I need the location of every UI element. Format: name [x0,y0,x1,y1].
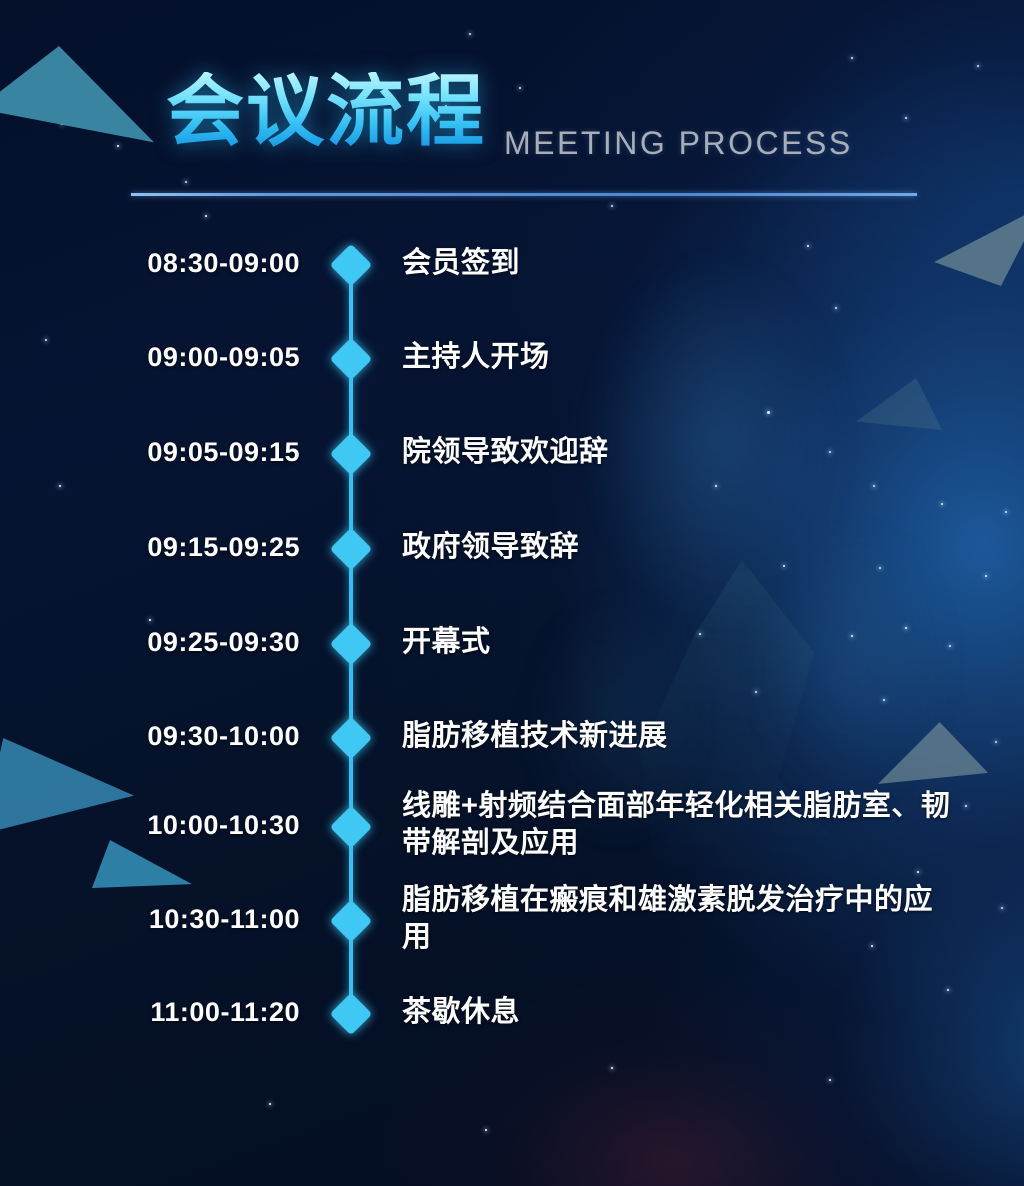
schedule-topic: 线雕+射频结合面部年轻化相关脂肪室、韧带解剖及应用 [402,788,962,862]
slide-canvas: 会议流程 MEETING PROCESS 08:30-09:00会员签到09:0… [0,0,1024,1186]
header-divider-line [131,193,917,196]
schedule-time: 09:05-09:15 [40,437,300,468]
section-header: 会议流程 MEETING PROCESS [131,72,931,192]
schedule-topic: 主持人开场 [402,339,962,376]
schedule-time: 09:00-09:05 [40,342,300,373]
schedule-topic: 政府领导致辞 [402,529,962,566]
schedule-topic: 脂肪移植在瘢痕和雄激素脱发治疗中的应用 [402,882,962,956]
schedule-topic: 脂肪移植技术新进展 [402,718,962,755]
schedule-topic: 开幕式 [402,624,962,661]
page-title-subtitle: MEETING PROCESS [504,125,853,162]
schedule-time: 09:30-10:00 [40,721,300,752]
schedule-topic: 会员签到 [402,245,962,282]
schedule-time: 11:00-11:20 [40,997,300,1028]
schedule-topic: 茶歇休息 [402,994,962,1031]
schedule-topic: 院领导致欢迎辞 [402,434,962,471]
page-title: 会议流程 [166,72,486,150]
schedule-time: 10:00-10:30 [40,810,300,841]
schedule-time: 10:30-11:00 [40,904,300,935]
schedule-time: 09:15-09:25 [40,532,300,563]
schedule-time: 09:25-09:30 [40,627,300,658]
schedule-time: 08:30-09:00 [40,248,300,279]
